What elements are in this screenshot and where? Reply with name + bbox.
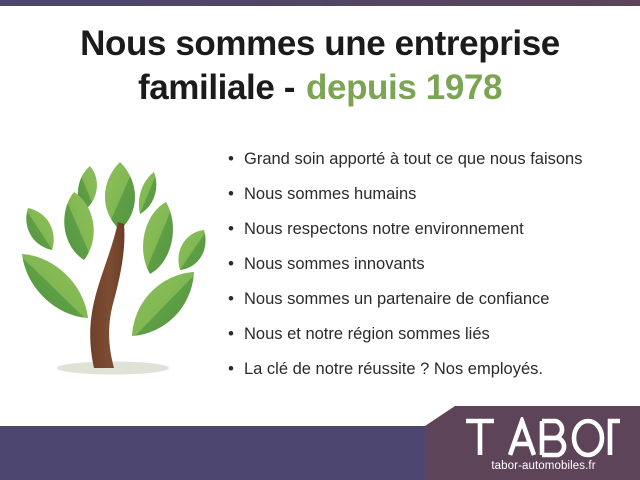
bullet-marker-icon: • [228, 252, 244, 276]
bullet-marker-icon: • [228, 322, 244, 346]
brand-logo[interactable]: tabor-automobiles.fr [461, 417, 626, 472]
list-item-label: Grand soin apporté à tout ce que nous fa… [244, 147, 582, 171]
page-title: Nous sommes une entreprise familiale -de… [0, 22, 640, 110]
list-item-label: Nous sommes innovants [244, 252, 425, 276]
list-item-label: Nous sommes humains [244, 182, 416, 206]
benefits-list: • Grand soin apporté à tout ce que nous … [228, 147, 628, 392]
list-item: • Grand soin apporté à tout ce que nous … [228, 147, 628, 182]
slide-canvas: Nous sommes une entreprise familiale -de… [0, 0, 640, 480]
page-title-line-2: familiale -depuis 1978 [0, 66, 640, 110]
bullet-marker-icon: • [228, 217, 244, 241]
brand-url: tabor-automobiles.fr [461, 460, 626, 472]
list-item: • Nous sommes un partenaire de confiance [228, 287, 628, 322]
list-item: • Nous sommes innovants [228, 252, 628, 287]
page-title-line-2-plain: familiale - [138, 68, 295, 107]
tree-logo-icon [8, 150, 223, 385]
bullet-marker-icon: • [228, 147, 244, 171]
bullet-marker-icon: • [228, 287, 244, 311]
tabor-wordmark-icon [461, 417, 626, 459]
list-item-label: Nous et notre région sommes liés [244, 322, 490, 346]
list-item: • Nous sommes humains [228, 182, 628, 217]
list-item-label: Nous sommes un partenaire de confiance [244, 287, 549, 311]
page-title-highlight: depuis 1978 [306, 68, 502, 107]
top-accent-strip [0, 0, 640, 6]
list-item-label: La clé de notre réussite ? Nos employés. [244, 357, 543, 381]
bullet-marker-icon: • [228, 357, 244, 381]
list-item: • Nous respectons notre environnement [228, 217, 628, 252]
tree-illustration [8, 150, 223, 385]
footer-bar: tabor-automobiles.fr [0, 398, 640, 480]
tree-trunk [90, 222, 124, 368]
page-title-line-1: Nous sommes une entreprise [0, 22, 640, 66]
list-item: • Nous et notre région sommes liés [228, 322, 628, 357]
bullet-marker-icon: • [228, 182, 244, 206]
list-item-label: Nous respectons notre environnement [244, 217, 524, 241]
list-item: • La clé de notre réussite ? Nos employé… [228, 357, 628, 392]
footer-bar-left [0, 426, 470, 480]
